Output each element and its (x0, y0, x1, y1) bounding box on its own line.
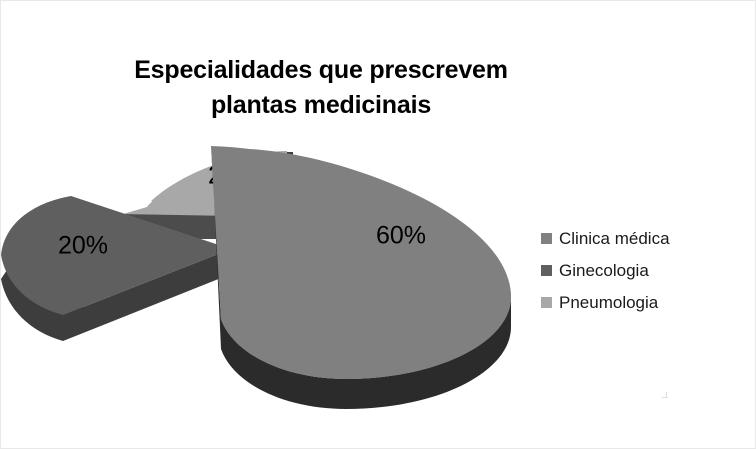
legend-swatch-icon-ginecologia (541, 265, 552, 276)
pie-slice-label-clinica-medica: 60% (376, 222, 426, 250)
chart-container: Especialidades que prescrevem plantas me… (0, 0, 756, 449)
legend-swatch-icon-clinica-medica (541, 233, 552, 244)
pie-chart-svg: 20% 20% 60% (1, 129, 541, 419)
resize-handle-icon[interactable] (662, 392, 671, 401)
legend-swatch-icon-pneumologia (541, 297, 552, 308)
pie-slice-clinica-medica-top-ellipse (213, 148, 511, 379)
pie-chart-plot-area: 20% 20% 60% (1, 129, 541, 419)
chart-title-line-2: plantas medicinais (61, 88, 581, 123)
chart-title-line-1: Especialidades que prescrevem (61, 53, 581, 88)
pie-slice-label-ginecologia: 20% (58, 232, 108, 260)
legend-item-ginecologia[interactable]: Ginecologia (541, 255, 741, 286)
legend-label-pneumologia: Pneumologia (559, 293, 658, 313)
chart-legend: Clinica médica Ginecologia Pneumologia (541, 223, 741, 319)
legend-label-clinica-medica: Clinica médica (559, 229, 670, 249)
chart-title: Especialidades que prescrevem plantas me… (61, 53, 581, 123)
legend-label-ginecologia: Ginecologia (559, 261, 649, 281)
legend-item-pneumologia[interactable]: Pneumologia (541, 287, 741, 318)
pie-slice-clinica-medica[interactable]: 60% (211, 146, 511, 409)
legend-item-clinica-medica[interactable]: Clinica médica (541, 223, 741, 254)
